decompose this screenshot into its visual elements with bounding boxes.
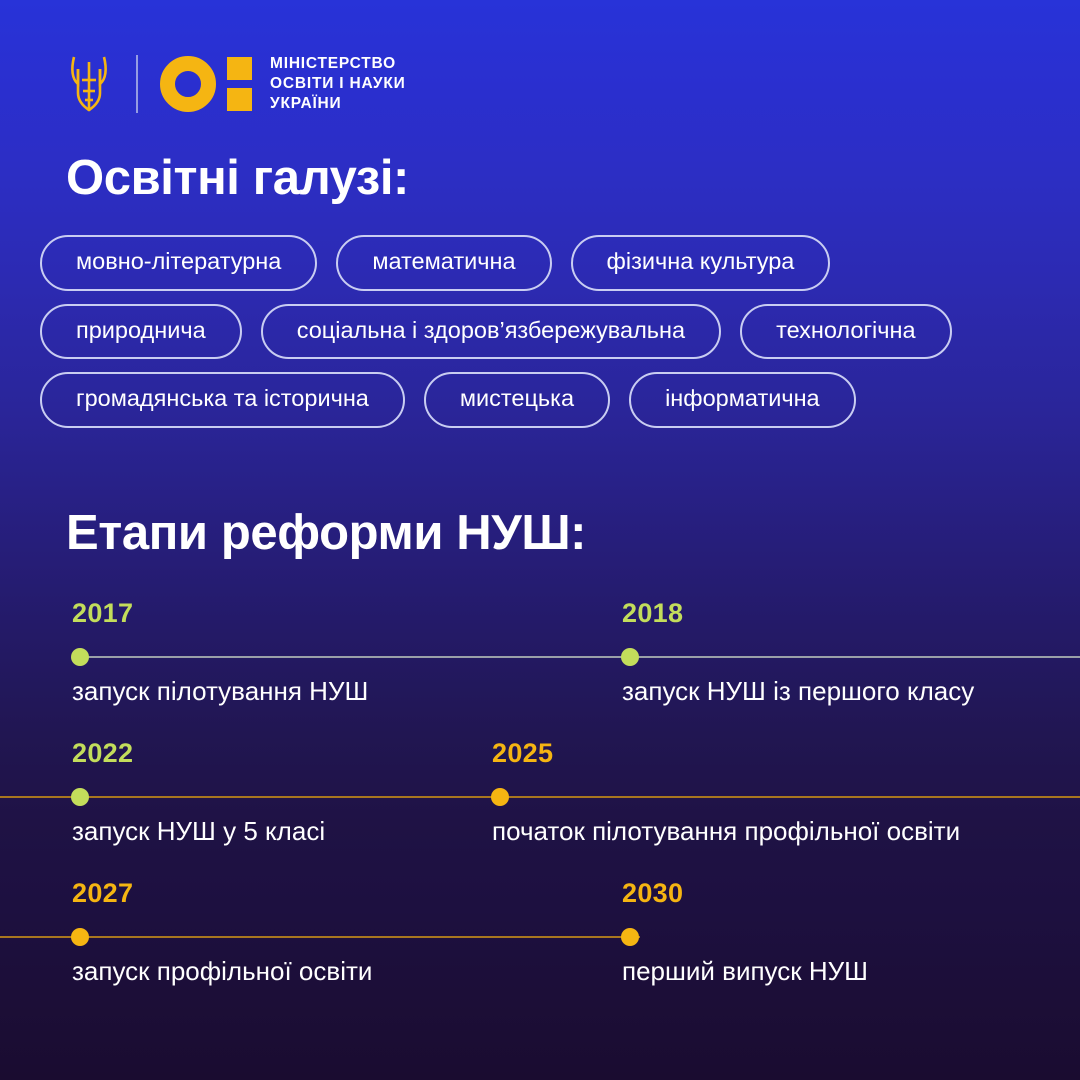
infographic-poster: Міністерство освіти і науки України Осві… — [0, 0, 1080, 1080]
branch-pill[interactable]: фізична культура — [571, 235, 831, 291]
timeline-milestone-dot — [71, 648, 89, 666]
timeline-year: 2017 — [72, 600, 133, 627]
branch-pill[interactable]: технологічна — [740, 304, 951, 360]
branches-pill-row: мовно-літературнаматематичнафізична куль… — [40, 235, 1040, 291]
branches-pill-row: громадянська та історичнамистецькаінформ… — [40, 372, 1040, 428]
ring-shape — [160, 56, 216, 112]
timeline-row: 2022запуск НУШ у 5 класі2025початок піло… — [0, 740, 1080, 880]
square-pair-shape — [227, 57, 252, 111]
branch-pill[interactable]: соціальна і здоров’язбережувальна — [261, 304, 721, 360]
branch-pill[interactable]: громадянська та історична — [40, 372, 405, 428]
timeline-milestone-dot — [71, 788, 89, 806]
branch-pill[interactable]: мистецька — [424, 372, 610, 428]
timeline-year: 2022 — [72, 740, 133, 767]
branch-pill[interactable]: мовно-літературна — [40, 235, 317, 291]
timeline-milestone-label: запуск НУШ у 5 класі — [72, 818, 325, 844]
ministry-logo: Міністерство освіти і науки України — [66, 42, 406, 126]
timeline-year: 2027 — [72, 880, 133, 907]
timeline-milestone-label: запуск пілотування НУШ — [72, 678, 368, 704]
timeline-milestone-dot — [71, 928, 89, 946]
timeline-milestone-label: запуск НУШ із першого класу — [622, 678, 974, 704]
stages-heading: Етапи реформи НУШ: — [66, 505, 586, 561]
timeline-row: 2027запуск профільної освіти2030перший в… — [0, 880, 1080, 1020]
branch-pill[interactable]: природнича — [40, 304, 242, 360]
timeline-year: 2018 — [622, 600, 683, 627]
branches-pill-list: мовно-літературнаматематичнафізична куль… — [40, 235, 1040, 441]
timeline-axis-line — [0, 796, 1080, 798]
branch-pill[interactable]: інформатична — [629, 372, 856, 428]
timeline-milestone-dot — [491, 788, 509, 806]
timeline-milestone-dot — [621, 928, 639, 946]
ministry-name-line1: Міністерство — [270, 54, 406, 74]
ministry-name-line2: освіти і науки — [270, 74, 406, 94]
timeline-axis-line — [72, 656, 1080, 658]
timeline-year: 2025 — [492, 740, 553, 767]
timeline-year: 2030 — [622, 880, 683, 907]
ukraine-trident-icon — [66, 53, 112, 115]
timeline-milestone-label: початок пілотування профільної освіти — [492, 818, 960, 844]
ministry-name: Міністерство освіти і науки України — [270, 54, 406, 114]
timeline-milestone-label: перший випуск НУШ — [622, 958, 868, 984]
timeline-milestone-label: запуск профільної освіти — [72, 958, 372, 984]
branches-heading: Освітні галузі: — [66, 150, 409, 206]
timeline-row: 2017запуск пілотування НУШ2018запуск НУШ… — [0, 600, 1080, 740]
logo-divider — [136, 55, 138, 113]
timeline-axis-line — [0, 936, 640, 938]
ministry-name-line3: України — [270, 94, 406, 114]
timeline-milestone-dot — [621, 648, 639, 666]
reform-timeline: 2017запуск пілотування НУШ2018запуск НУШ… — [0, 600, 1080, 1020]
branches-pill-row: природничасоціальна і здоров’язбережувал… — [40, 304, 1040, 360]
mon-o-mark-icon — [160, 56, 252, 112]
branch-pill[interactable]: математична — [336, 235, 551, 291]
